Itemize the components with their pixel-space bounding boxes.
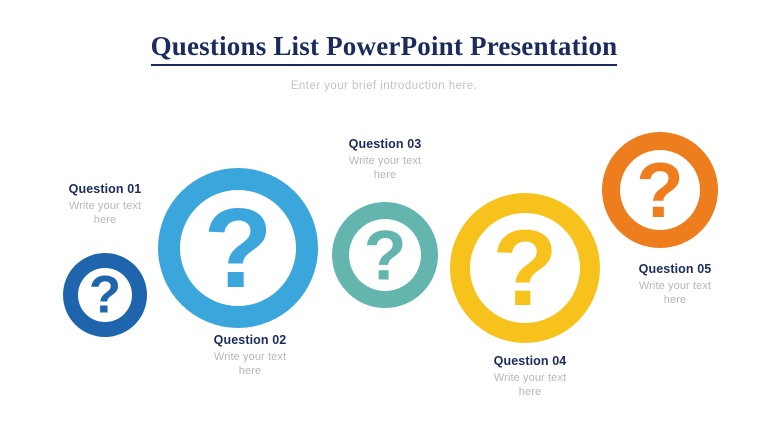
question-label-title: Question 04 [455,353,605,369]
question-label-body-line1: Write your text [175,350,325,364]
svg-text:?: ? [203,185,272,311]
slide-canvas: Questions List PowerPoint Presentation E… [0,0,768,432]
question-circle-1[interactable]: ? [63,253,147,337]
question-label-title: Question 03 [310,136,460,152]
slide-header: Questions List PowerPoint Presentation E… [0,30,768,93]
question-circle-5[interactable]: ? [602,132,718,248]
question-label-body-line1: Write your text [310,154,460,168]
svg-text:?: ? [636,146,684,234]
svg-text:?: ? [364,216,407,295]
question-label-4: Question 04Write your texthere [455,353,605,399]
question-label-body-line1: Write your text [30,199,180,213]
question-label-title: Question 02 [175,332,325,348]
question-label-5: Question 05Write your texthere [600,261,750,307]
question-label-title: Question 05 [600,261,750,277]
question-label-body-line2: here [175,364,325,378]
svg-text:?: ? [492,208,558,328]
question-label-body-line2: here [600,293,750,307]
question-circle-3[interactable]: ? [332,202,438,308]
page-title: Questions List PowerPoint Presentation [151,30,618,66]
question-label-1: Question 01Write your texthere [30,181,180,227]
question-label-body-line2: here [30,213,180,227]
svg-text:?: ? [89,266,121,325]
question-label-2: Question 02Write your texthere [175,332,325,378]
question-label-body-line2: here [455,385,605,399]
question-circle-4[interactable]: ? [450,193,600,343]
question-label-body-line1: Write your text [600,279,750,293]
question-label-body-line1: Write your text [455,371,605,385]
page-subtitle: Enter your brief introduction here. [0,79,768,93]
question-label-3: Question 03Write your texthere [310,136,460,182]
question-circle-2[interactable]: ? [158,168,318,328]
question-label-title: Question 01 [30,181,180,197]
question-label-body-line2: here [310,168,460,182]
